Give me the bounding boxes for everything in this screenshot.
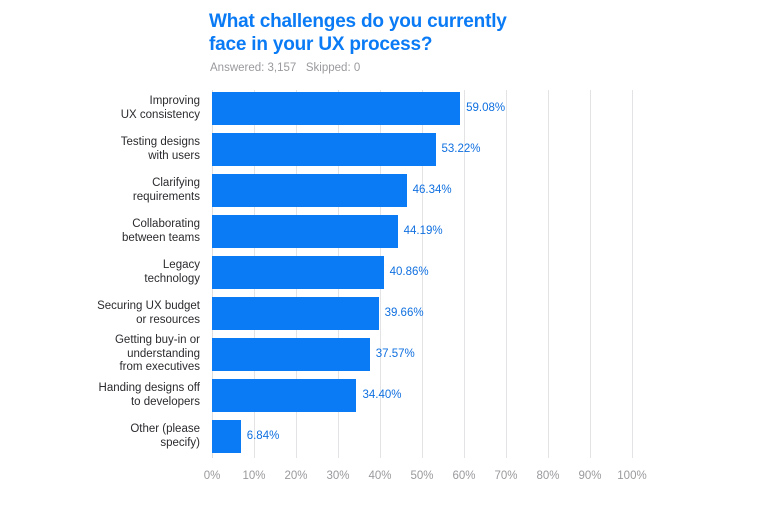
bar-value-label: 44.19%	[398, 215, 443, 248]
category-label: Securing UX budgetor resources	[50, 300, 200, 327]
category-label-line: Getting buy-in or	[115, 334, 200, 346]
bar[interactable]	[212, 297, 379, 330]
category-label-line: Other (please	[130, 423, 200, 435]
x-tick-label: 0%	[204, 470, 221, 482]
category-label-line: from executives	[119, 361, 200, 373]
bar-row[interactable]: 37.57%	[212, 338, 632, 371]
category-label: Legacytechnology	[50, 259, 200, 286]
x-tick-label: 70%	[494, 470, 517, 482]
category-label-line: with users	[148, 150, 200, 162]
x-tick-label: 50%	[410, 470, 433, 482]
category-label-line: Legacy	[163, 259, 200, 271]
bar-row[interactable]: 46.34%	[212, 174, 632, 207]
bar-value-label: 59.08%	[460, 92, 505, 125]
category-label-line: Testing designs	[121, 136, 200, 148]
category-label-line: Collaborating	[132, 218, 200, 230]
x-tick-label: 100%	[617, 470, 646, 482]
category-label-line: Handing designs off	[99, 382, 200, 394]
bar-row[interactable]: 53.22%	[212, 133, 632, 166]
x-tick-label: 90%	[578, 470, 601, 482]
bar[interactable]	[212, 379, 356, 412]
category-label: Other (pleasespecify)	[50, 423, 200, 450]
chart-subtitle: Answered: 3,157 Skipped: 0	[210, 62, 360, 74]
bar[interactable]	[212, 92, 460, 125]
x-tick-label: 10%	[242, 470, 265, 482]
category-label-line: understanding	[127, 348, 200, 360]
category-label-line: specify)	[160, 437, 200, 449]
category-label-line: Clarifying	[152, 177, 200, 189]
category-label: ImprovingUX consistency	[50, 95, 200, 122]
bar[interactable]	[212, 174, 407, 207]
gridline-100%	[632, 90, 633, 458]
bar-value-label: 46.34%	[407, 174, 452, 207]
category-label-line: to developers	[131, 396, 200, 408]
bar-row[interactable]: 6.84%	[212, 420, 632, 453]
category-label-line: UX consistency	[121, 109, 200, 121]
bar-row[interactable]: 44.19%	[212, 215, 632, 248]
x-tick-label: 80%	[536, 470, 559, 482]
bar[interactable]	[212, 338, 370, 371]
bar-value-label: 40.86%	[384, 256, 429, 289]
x-tick-label: 40%	[368, 470, 391, 482]
category-label-line: Securing UX budget	[97, 300, 200, 312]
bar-row[interactable]: 59.08%	[212, 92, 632, 125]
category-axis-labels: ImprovingUX consistencyTesting designswi…	[48, 90, 200, 458]
bar-value-label: 53.22%	[436, 133, 481, 166]
category-label-line: or resources	[136, 314, 200, 326]
bar-value-label: 6.84%	[241, 420, 280, 453]
category-label: Testing designswith users	[50, 136, 200, 163]
x-tick-label: 20%	[284, 470, 307, 482]
category-label: Handing designs offto developers	[50, 382, 200, 409]
x-axis-tick-labels: 0%10%20%30%40%50%60%70%80%90%100%	[212, 470, 632, 486]
x-tick-label: 60%	[452, 470, 475, 482]
category-label: Getting buy-in orunderstandingfrom execu…	[50, 334, 200, 375]
bar-value-label: 34.40%	[356, 379, 401, 412]
x-tick-label: 30%	[326, 470, 349, 482]
bar[interactable]	[212, 420, 241, 453]
bar-row[interactable]: 40.86%	[212, 256, 632, 289]
bar[interactable]	[212, 133, 436, 166]
chart-title: What challenges do you currently face in…	[209, 10, 539, 56]
bar-value-label: 37.57%	[370, 338, 415, 371]
bar[interactable]	[212, 256, 384, 289]
category-label-line: technology	[144, 273, 200, 285]
bar-row[interactable]: 34.40%	[212, 379, 632, 412]
category-label: Collaboratingbetween teams	[50, 218, 200, 245]
category-label-line: Improving	[150, 95, 201, 107]
plot-area: 59.08%53.22%46.34%44.19%40.86%39.66%37.5…	[212, 90, 632, 458]
category-label-line: between teams	[122, 232, 200, 244]
category-label: Clarifyingrequirements	[50, 177, 200, 204]
bar-value-label: 39.66%	[379, 297, 424, 330]
bar[interactable]	[212, 215, 398, 248]
category-label-line: requirements	[133, 191, 200, 203]
bar-row[interactable]: 39.66%	[212, 297, 632, 330]
chart-card: What challenges do you currently face in…	[0, 0, 783, 515]
